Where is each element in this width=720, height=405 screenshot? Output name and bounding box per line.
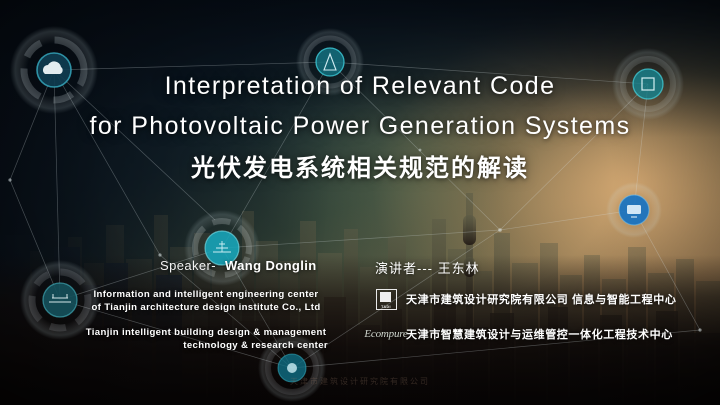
title-block: Interpretation of Relevant Code for Phot… bbox=[0, 66, 720, 189]
tadi-logo-caption: TADI bbox=[377, 305, 396, 309]
presentation-title-slide: Interpretation of Relevant Code for Phot… bbox=[0, 0, 720, 405]
organization-row-tadi: TADI 天津市建筑设计研究院有限公司 信息与智能工程中心 bbox=[366, 286, 711, 312]
speaker-chinese: 演讲者--- 王东林 bbox=[375, 258, 480, 277]
speaker-name-english: Wang Donglin bbox=[225, 258, 317, 273]
title-english-line-2: for Photovoltaic Power Generation System… bbox=[0, 106, 720, 146]
org-left-line-4: technology & research center bbox=[78, 339, 334, 352]
title-english-line-1: Interpretation of Relevant Code bbox=[0, 66, 720, 106]
footnote-watermark: 天津市建筑设计研究院有限公司 bbox=[0, 376, 720, 387]
speaker-english: Speaker-Wang Donglin bbox=[160, 258, 350, 273]
org-right-line-1: 天津市建筑设计研究院有限公司 信息与智能工程中心 bbox=[406, 291, 676, 307]
org-left-line-2: of Tianjin architecture design institute… bbox=[78, 301, 334, 314]
org-right-line-2: 天津市智慧建筑设计与运维管控一体化工程技术中心 bbox=[406, 326, 673, 342]
speaker-label-english: Speaker- bbox=[160, 258, 216, 273]
organization-left-block: Information and intelligent engineering … bbox=[78, 288, 334, 352]
organization-right-block: TADI 天津市建筑设计研究院有限公司 信息与智能工程中心 Ecompure 天… bbox=[366, 286, 711, 347]
tadi-logo: TADI bbox=[366, 289, 406, 310]
ecompure-wordmark: Ecompure bbox=[364, 328, 407, 340]
org-left-line-3: Tianjin intelligent building design & ma… bbox=[78, 326, 334, 339]
ecompure-logo: Ecompure bbox=[366, 328, 406, 340]
monitor-node bbox=[606, 182, 662, 238]
org-left-line-1: Information and intelligent engineering … bbox=[78, 288, 334, 301]
title-chinese: 光伏发电系统相关规范的解读 bbox=[0, 149, 720, 189]
tadi-logo-mark: TADI bbox=[376, 289, 397, 310]
speaker-row: Speaker-Wang Donglin 演讲者--- 王东林 bbox=[0, 258, 720, 280]
organization-row-ecompure: Ecompure 天津市智慧建筑设计与运维管控一体化工程技术中心 bbox=[366, 321, 711, 347]
